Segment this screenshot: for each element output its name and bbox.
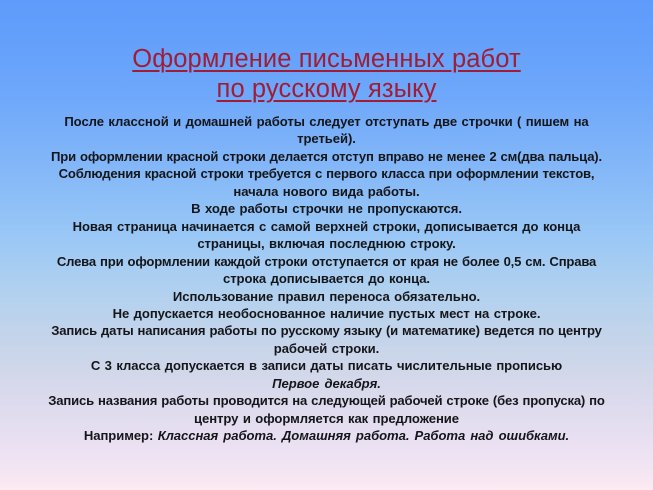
body-line-3: При оформлении красной строки делается о… (28, 148, 625, 165)
body-line-13: Запись даты написания работы по русскому… (28, 322, 625, 339)
title-line-1-text: Оформление письменных работ (132, 45, 520, 73)
body-line-6: В ходе работы строчки не пропускаются. (28, 200, 625, 217)
slide-title: Оформление письменных работ по русскому … (0, 44, 653, 104)
title-line-2-text: по русскому языку (217, 75, 437, 103)
body-line-15: С 3 класса допускается в записи даты пис… (28, 357, 625, 374)
body-line-5: начала нового вида работы. (28, 183, 625, 200)
body-line-2: третьей). (28, 130, 625, 147)
body-line-4: Соблюдения красной строки требуется с пе… (28, 165, 625, 182)
slide-body: После классной и домашней работы следует… (28, 113, 625, 445)
slide-canvas: Оформление письменных работ по русскому … (0, 0, 653, 490)
example-prefix: Например: (84, 428, 153, 443)
body-line-12: Не допускается необоснованное наличие пу… (28, 305, 625, 322)
title-line-2: по русскому языку (0, 74, 653, 104)
body-line-9: Слева при оформлении каждой строки отсту… (28, 253, 625, 270)
body-line-11: Использование правил переноса обязательн… (28, 288, 625, 305)
title-line-1: Оформление письменных работ (0, 44, 653, 74)
example-italic-text: Классная работа. Домашняя работа. Работа… (158, 428, 569, 443)
body-line-19-examples: Например: Классная работа. Домашняя рабо… (28, 427, 625, 444)
body-line-18: центру и оформляется как предложение (28, 410, 625, 427)
body-line-8: страницы, включая последнюю строку. (28, 235, 625, 252)
body-line-17: Запись названия работы проводится на сле… (28, 392, 625, 409)
body-line-14: рабочей строки. (28, 340, 625, 357)
body-line-16-date-example: Первое декабря. (28, 375, 625, 392)
body-line-1: После классной и домашней работы следует… (28, 113, 625, 130)
body-line-7: Новая страница начинается с самой верхне… (28, 218, 625, 235)
body-line-10: строка дописывается до конца. (28, 270, 625, 287)
